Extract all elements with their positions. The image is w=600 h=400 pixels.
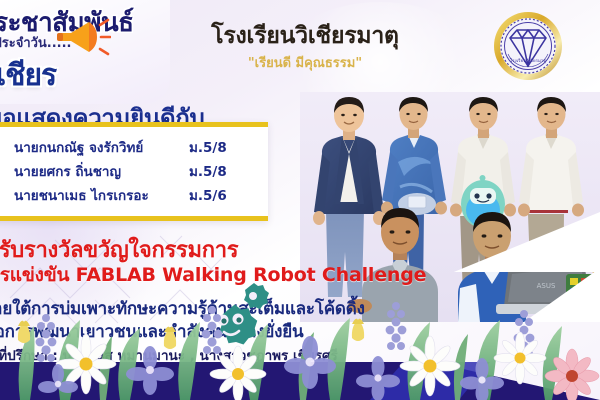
card-bottom-rule <box>0 216 268 221</box>
student-name: นายยศกร ถิ่นชาญ <box>14 160 189 182</box>
student-class: ม.5/8 <box>189 136 227 158</box>
list-item: นายกนกณัฐ จงรักวิทย์ ม.5/8 <box>0 135 268 159</box>
school-name: โรงเรียนวิเชียรมาตุ <box>150 18 460 54</box>
students-list: นายกนกณัฐ จงรักวิทย์ ม.5/8 นายยศกร ถิ่นช… <box>0 127 268 216</box>
announcement-banner: ประชาสัมพันธ์ ข่าวประจำวัน..... วิเชียร <box>0 0 170 104</box>
svg-text:ASUS: ASUS <box>537 282 556 290</box>
teal-gear-robot-mascot-icon <box>200 278 274 348</box>
list-item: นายชนาเมธ ไกรเกรอะ ม.5/6 <box>0 183 268 207</box>
list-item: นายยศกร ถิ่นชาญ ม.5/8 <box>0 159 268 183</box>
bottom-navy-band <box>0 362 600 400</box>
megaphone-icon <box>55 17 111 57</box>
school-diamond-logo-icon: โรงเรียนวิเชียรมาตุ <box>492 10 564 82</box>
svg-text:โรงเรียนวิเชียรมาตุ: โรงเรียนวิเชียรมาตุ <box>510 57 547 64</box>
poster-canvas: ASUS ประชาสัมพันธ์ ข่าวประจำวัน..... วิเ… <box>0 0 600 400</box>
student-class: ม.5/6 <box>189 184 227 206</box>
school-motto: "เรียนดี มีคุณธรรม" <box>150 52 460 73</box>
banner-brand: วิเชียร <box>0 52 56 99</box>
student-class: ม.5/8 <box>189 160 227 182</box>
student-name: นายกนกณัฐ จงรักวิทย์ <box>14 136 189 158</box>
students-card: นายกนกณัฐ จงรักวิทย์ ม.5/8 นายยศกร ถิ่นช… <box>0 122 268 221</box>
advisor-line: ครูที่ปรึกษา : นายอนิส หมานมานะ , นางสาว… <box>0 344 338 366</box>
student-name: นายชนาเมธ ไกรเกรอะ <box>14 184 189 206</box>
